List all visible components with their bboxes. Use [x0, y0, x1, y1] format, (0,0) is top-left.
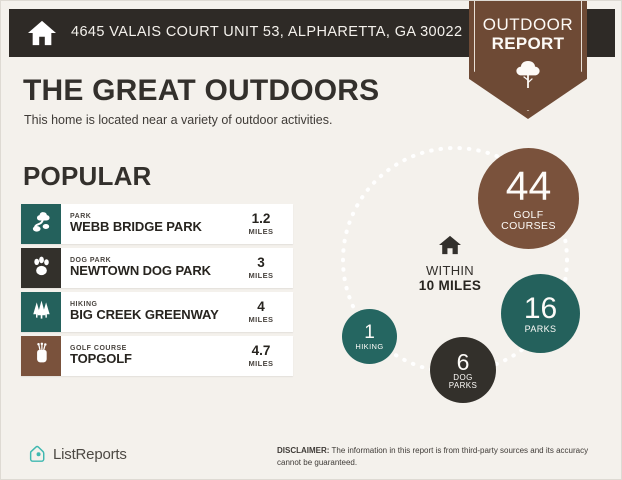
park-tree-icon: [30, 210, 53, 238]
badge-label: OUTDOOR REPORT: [469, 15, 587, 53]
bubble-label-line-2: COURSES: [501, 221, 556, 232]
list-item-distance-value: 4: [235, 300, 287, 314]
bubble-label-line-1: HIKING: [355, 343, 383, 351]
list-item[interactable]: PARK WEBB BRIDGE PARK 1.2 MILES: [21, 204, 293, 244]
list-item-tile: [21, 336, 61, 376]
page-subtitle: This home is located near a variety of o…: [24, 113, 332, 127]
list-item[interactable]: GOLF COURSE TOPGOLF 4.7 MILES: [21, 336, 293, 376]
diagram-center: WITHIN 10 MILES: [395, 234, 505, 293]
list-item-distance: 1.2 MILES: [235, 212, 293, 235]
list-item-text: GOLF COURSE TOPGOLF: [61, 345, 235, 368]
paw-print-icon: [30, 254, 53, 282]
disclaimer: DISCLAIMER: The information in this repo…: [277, 445, 597, 470]
bubble-value: 6: [457, 350, 470, 374]
bubble-value: 1: [364, 323, 375, 343]
bubble-parks[interactable]: 16 PARKS: [501, 274, 580, 353]
report-page: 4645 VALAIS COURT UNIT 53, ALPHARETTA, G…: [0, 0, 622, 480]
list-item-distance: 3 MILES: [235, 256, 293, 279]
badge-line-1: OUTDOOR: [469, 15, 587, 34]
tree-icon: [514, 59, 542, 89]
list-item-name: BIG CREEK GREENWAY: [70, 308, 235, 323]
property-address: 4645 VALAIS COURT UNIT 53, ALPHARETTA, G…: [71, 24, 462, 40]
list-item-tile: [21, 204, 61, 244]
list-item-name: TOPGOLF: [70, 352, 235, 367]
bubble-value: 44: [506, 165, 552, 208]
popular-places-list: PARK WEBB BRIDGE PARK 1.2 MILES: [21, 204, 293, 380]
bubble-value: 16: [524, 293, 557, 325]
bubble-label-line-1: GOLF: [513, 210, 543, 221]
pine-trees-icon: [30, 298, 53, 326]
house-icon: [27, 19, 57, 47]
golf-bag-icon: [30, 342, 53, 370]
bubble-dog-parks[interactable]: 6 DOG PARKS: [430, 337, 496, 403]
list-item-distance-unit: MILES: [235, 271, 287, 280]
house-icon: [438, 243, 462, 260]
listreports-house-icon: [27, 444, 47, 464]
listreports-logo[interactable]: ListReports: [27, 444, 127, 464]
bubble-label-line-2: PARKS: [449, 382, 478, 390]
list-item-distance-unit: MILES: [235, 315, 287, 324]
list-item-distance-unit: MILES: [235, 227, 287, 236]
list-item-tile: [21, 248, 61, 288]
listreports-logo-text: ListReports: [53, 446, 127, 463]
page-title: THE GREAT OUTDOORS: [23, 74, 379, 108]
list-item-name: WEBB BRIDGE PARK: [70, 220, 235, 235]
list-item[interactable]: DOG PARK NEWTOWN DOG PARK 3 MILES: [21, 248, 293, 288]
list-item-distance-unit: MILES: [235, 359, 287, 368]
bubble-hiking[interactable]: 1 HIKING: [342, 309, 397, 364]
section-title-popular: POPULAR: [23, 161, 152, 192]
diagram-center-line-1: WITHIN: [395, 263, 505, 278]
badge-line-2: REPORT: [469, 34, 587, 53]
within-10-miles-diagram: 44 GOLF COURSES 16 PARKS 6 DOG PARKS 1 H…: [321, 136, 611, 421]
list-item-tile: [21, 292, 61, 332]
diagram-center-line-2: 10 MILES: [395, 278, 505, 293]
list-item-distance: 4.7 MILES: [235, 344, 293, 367]
list-item-distance-value: 1.2: [235, 212, 287, 226]
bubble-label-line-1: PARKS: [525, 325, 557, 334]
list-item[interactable]: HIKING BIG CREEK GREENWAY 4 MILES: [21, 292, 293, 332]
list-item-distance-value: 4.7: [235, 344, 287, 358]
list-item-text: HIKING BIG CREEK GREENWAY: [61, 301, 235, 324]
list-item-text: DOG PARK NEWTOWN DOG PARK: [61, 257, 235, 280]
disclaimer-label: DISCLAIMER:: [277, 446, 329, 455]
list-item-distance-value: 3: [235, 256, 287, 270]
list-item-distance: 4 MILES: [235, 300, 293, 323]
list-item-text: PARK WEBB BRIDGE PARK: [61, 213, 235, 236]
outdoor-report-badge: OUTDOOR REPORT: [469, 1, 587, 119]
list-item-name: NEWTOWN DOG PARK: [70, 264, 235, 279]
